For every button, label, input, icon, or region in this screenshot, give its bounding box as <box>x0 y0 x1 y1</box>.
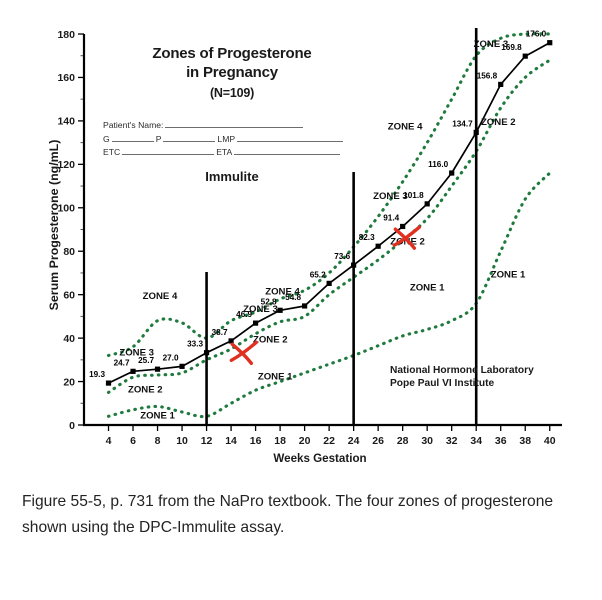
svg-text:27.0: 27.0 <box>163 353 179 362</box>
svg-text:12: 12 <box>201 435 213 447</box>
red-x-mark-1 <box>231 342 256 363</box>
svg-text:30: 30 <box>421 435 433 447</box>
lab-name: National Hormone Laboratory <box>390 364 534 377</box>
gravida-label: G <box>103 133 110 146</box>
svg-text:ZONE 1: ZONE 1 <box>410 282 445 293</box>
chart-title-line-2: in Pregnancy <box>186 64 278 81</box>
institute-name: Pope Paul VI Institute <box>390 377 534 390</box>
svg-text:156.8: 156.8 <box>477 71 498 80</box>
svg-text:33.3: 33.3 <box>187 340 203 349</box>
svg-text:180: 180 <box>57 29 75 41</box>
svg-text:ZONE 4: ZONE 4 <box>388 122 423 133</box>
svg-text:19.3: 19.3 <box>89 370 105 379</box>
etc-eta-row: ETC ETA <box>103 145 345 159</box>
x-axis-tick-labels: 46810121416182022242628303234363840 <box>106 435 556 447</box>
x-axis-title: Weeks Gestation <box>90 452 550 465</box>
svg-text:34: 34 <box>470 435 482 447</box>
svg-text:24.7: 24.7 <box>114 358 130 367</box>
para-input[interactable] <box>163 132 215 142</box>
etc-label: ETC <box>103 146 120 159</box>
svg-text:40: 40 <box>63 333 75 345</box>
svg-text:ZONE 1: ZONE 1 <box>140 410 175 421</box>
figure-root: 020406080100120140160180 468101214161820… <box>0 0 602 600</box>
svg-text:ZONE 4: ZONE 4 <box>143 291 178 302</box>
patient-name-row: Patient's Name: <box>103 118 345 132</box>
svg-text:10: 10 <box>176 435 188 447</box>
chart-title: Zones of Progesterone in Pregnancy (N=10… <box>112 44 352 103</box>
svg-text:16: 16 <box>250 435 262 447</box>
sample-size-label: (N=109) <box>112 84 352 103</box>
svg-text:ZONE 2: ZONE 2 <box>128 384 163 395</box>
svg-text:14: 14 <box>225 435 237 447</box>
svg-text:ZONE 2: ZONE 2 <box>481 117 516 128</box>
figure-caption: Figure 55-5, p. 731 from the NaPro textb… <box>22 489 584 541</box>
eta-label: ETA <box>216 146 232 159</box>
svg-text:ZONE 3: ZONE 3 <box>373 191 408 202</box>
y-axis-title: Serum Progesterone (ng/mL) <box>47 75 61 375</box>
svg-text:134.7: 134.7 <box>452 119 473 128</box>
svg-text:60: 60 <box>63 289 75 301</box>
para-label: P <box>156 133 162 146</box>
svg-text:22: 22 <box>323 435 335 447</box>
svg-text:8: 8 <box>155 435 161 447</box>
svg-text:20: 20 <box>299 435 311 447</box>
svg-text:ZONE 3: ZONE 3 <box>474 39 509 50</box>
lab-attribution: National Hormone Laboratory Pope Paul VI… <box>390 364 534 390</box>
svg-text:36: 36 <box>495 435 507 447</box>
svg-text:65.2: 65.2 <box>310 270 326 279</box>
chart-figure: 020406080100120140160180 468101214161820… <box>0 0 602 480</box>
svg-text:26: 26 <box>372 435 384 447</box>
svg-text:80: 80 <box>63 246 75 258</box>
svg-text:82.3: 82.3 <box>359 233 375 242</box>
patient-name-input[interactable] <box>165 118 303 128</box>
svg-text:ZONE 2: ZONE 2 <box>253 334 288 345</box>
svg-text:20: 20 <box>63 376 75 388</box>
assay-name-label: Immulite <box>112 169 352 184</box>
svg-text:ZONE 4: ZONE 4 <box>265 287 300 298</box>
svg-text:4: 4 <box>106 435 112 447</box>
svg-text:ZONE 1: ZONE 1 <box>491 269 526 280</box>
lmp-label: LMP <box>217 133 235 146</box>
svg-text:32: 32 <box>446 435 458 447</box>
patient-name-label: Patient's Name: <box>103 119 163 132</box>
svg-text:38.7: 38.7 <box>212 328 228 337</box>
svg-text:91.4: 91.4 <box>383 213 399 222</box>
svg-text:38: 38 <box>519 435 531 447</box>
gravida-para-lmp-row: G P LMP <box>103 132 345 146</box>
svg-text:176.0: 176.0 <box>526 30 547 39</box>
svg-text:73.6: 73.6 <box>334 252 350 261</box>
gravida-input[interactable] <box>112 132 154 142</box>
svg-text:0: 0 <box>69 420 75 432</box>
svg-text:24: 24 <box>348 435 360 447</box>
svg-text:28: 28 <box>397 435 409 447</box>
svg-text:116.0: 116.0 <box>428 160 448 169</box>
eta-input[interactable] <box>234 145 340 155</box>
etc-input[interactable] <box>122 145 214 155</box>
svg-text:18: 18 <box>274 435 286 447</box>
svg-text:40: 40 <box>544 435 556 447</box>
svg-text:6: 6 <box>130 435 136 447</box>
svg-text:ZONE 1: ZONE 1 <box>258 371 293 382</box>
svg-text:ZONE 3: ZONE 3 <box>243 304 278 315</box>
patient-info-form: Patient's Name: G P LMP ETC ETA <box>103 118 345 159</box>
svg-text:ZONE 3: ZONE 3 <box>119 347 154 358</box>
chart-title-line-1: Zones of Progesterone <box>152 45 311 62</box>
lmp-input[interactable] <box>237 132 343 142</box>
